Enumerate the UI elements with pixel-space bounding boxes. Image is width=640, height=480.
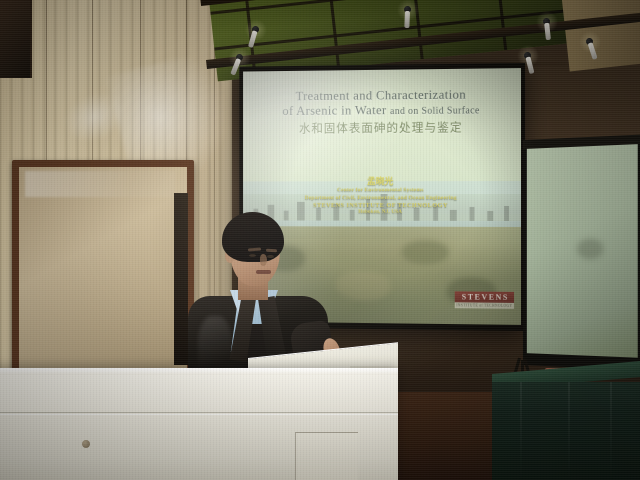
secondary-screen-surface [527,144,638,358]
photograph-scene: Treatment and Characterization of Arseni… [0,0,640,480]
speaker-eye [267,255,274,258]
track-light-icon [404,6,411,13]
track-light-icon [235,53,244,62]
slide-title-block: Treatment and Characterization of Arseni… [243,86,521,137]
track-light-icon [543,18,551,26]
slide-author-name: 孟晓光 [243,177,521,187]
panel-glare [25,171,175,197]
slide-affiliation-1: Center for Environmental Systems [243,187,521,194]
slide-title-line2-tail: and on Solid Surface [390,105,480,117]
track-light-icon [523,51,531,59]
slide-affiliation-2: Department of Civil, Environmental, and … [243,195,521,202]
secondary-projection-screen [523,135,640,371]
ceiling-wood-section [560,0,640,71]
speaker-nose [260,254,267,266]
stevens-logo: STEVENS INSTITUTE of TECHNOLOGY [455,291,514,309]
track-light-icon [585,37,594,46]
stevens-wordmark: STEVENS [455,291,514,303]
slide-title-line2-main: of Arsenic in Water [282,102,386,118]
speaker-eye [249,254,256,257]
slide-title-line2: of Arsenic in Water and on Solid Surface [243,101,521,120]
stevens-logo-subtitle: INSTITUTE of TECHNOLOGY [455,302,514,309]
slide-author-block: 孟晓光 Center for Environmental Systems Dep… [243,177,521,217]
framed-wall-panel [12,160,194,379]
dark-wall-panel [0,0,32,78]
track-light-icon [251,25,260,34]
speaker-mouth [256,270,271,274]
podium-door-panel [295,432,358,480]
podium-knob [82,440,90,448]
slide-title-chinese: 水和固体表面砷的处理与鉴定 [243,119,521,137]
draped-table [492,382,640,480]
